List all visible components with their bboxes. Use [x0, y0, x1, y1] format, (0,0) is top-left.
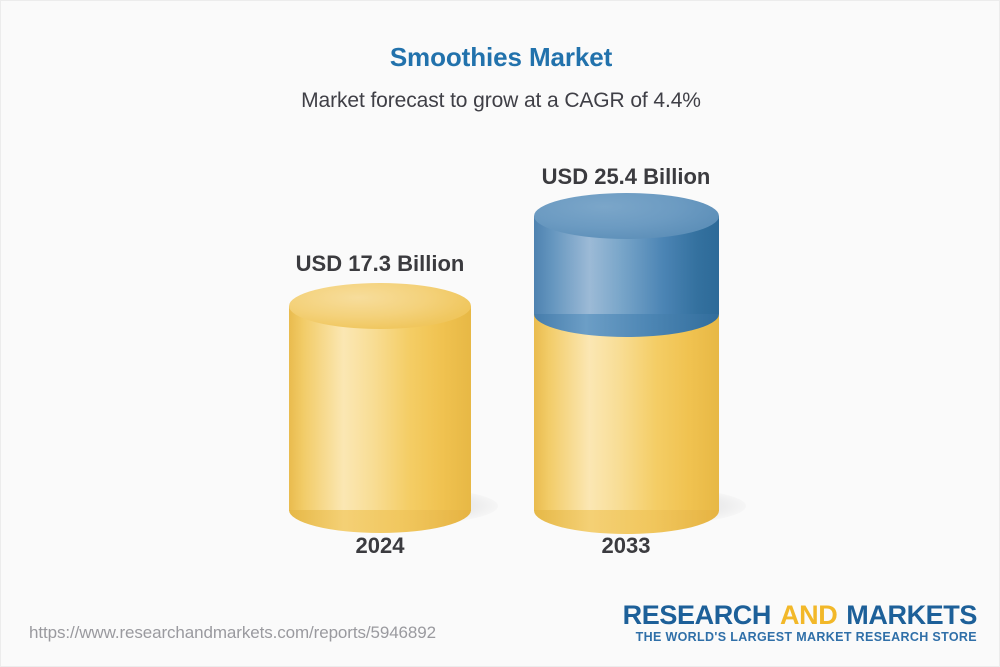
- brand-word-research: RESEARCH: [623, 600, 771, 630]
- chart-canvas: Smoothies Market Market forecast to grow…: [0, 0, 1000, 667]
- data-label-2024: USD 17.3 Billion: [220, 251, 540, 277]
- brand-wordmark: RESEARCHANDMARKETS: [623, 601, 977, 629]
- brand-word-markets: MARKETS: [846, 600, 977, 630]
- brand-tagline: THE WORLD'S LARGEST MARKET RESEARCH STOR…: [623, 630, 977, 645]
- cylinder-top-cap-2024: [289, 283, 471, 329]
- source-url-text[interactable]: https://www.researchandmarkets.com/repor…: [29, 623, 436, 643]
- brand-word-and: AND: [780, 600, 837, 630]
- data-label-2033: USD 25.4 Billion: [466, 164, 786, 190]
- cylinder-body-2024-yellow-overlay: [289, 306, 471, 510]
- chart-plot-area: USD 17.3 Billion 2024 USD 25.4 Billion: [1, 1, 1000, 601]
- category-label-2033: 2033: [466, 533, 786, 559]
- cylinder-body-2033-yellow-overlay: [534, 314, 719, 510]
- brand-logo[interactable]: RESEARCHANDMARKETS THE WORLD'S LARGEST M…: [623, 601, 977, 645]
- cylinder-top-cap-2033: [534, 193, 719, 239]
